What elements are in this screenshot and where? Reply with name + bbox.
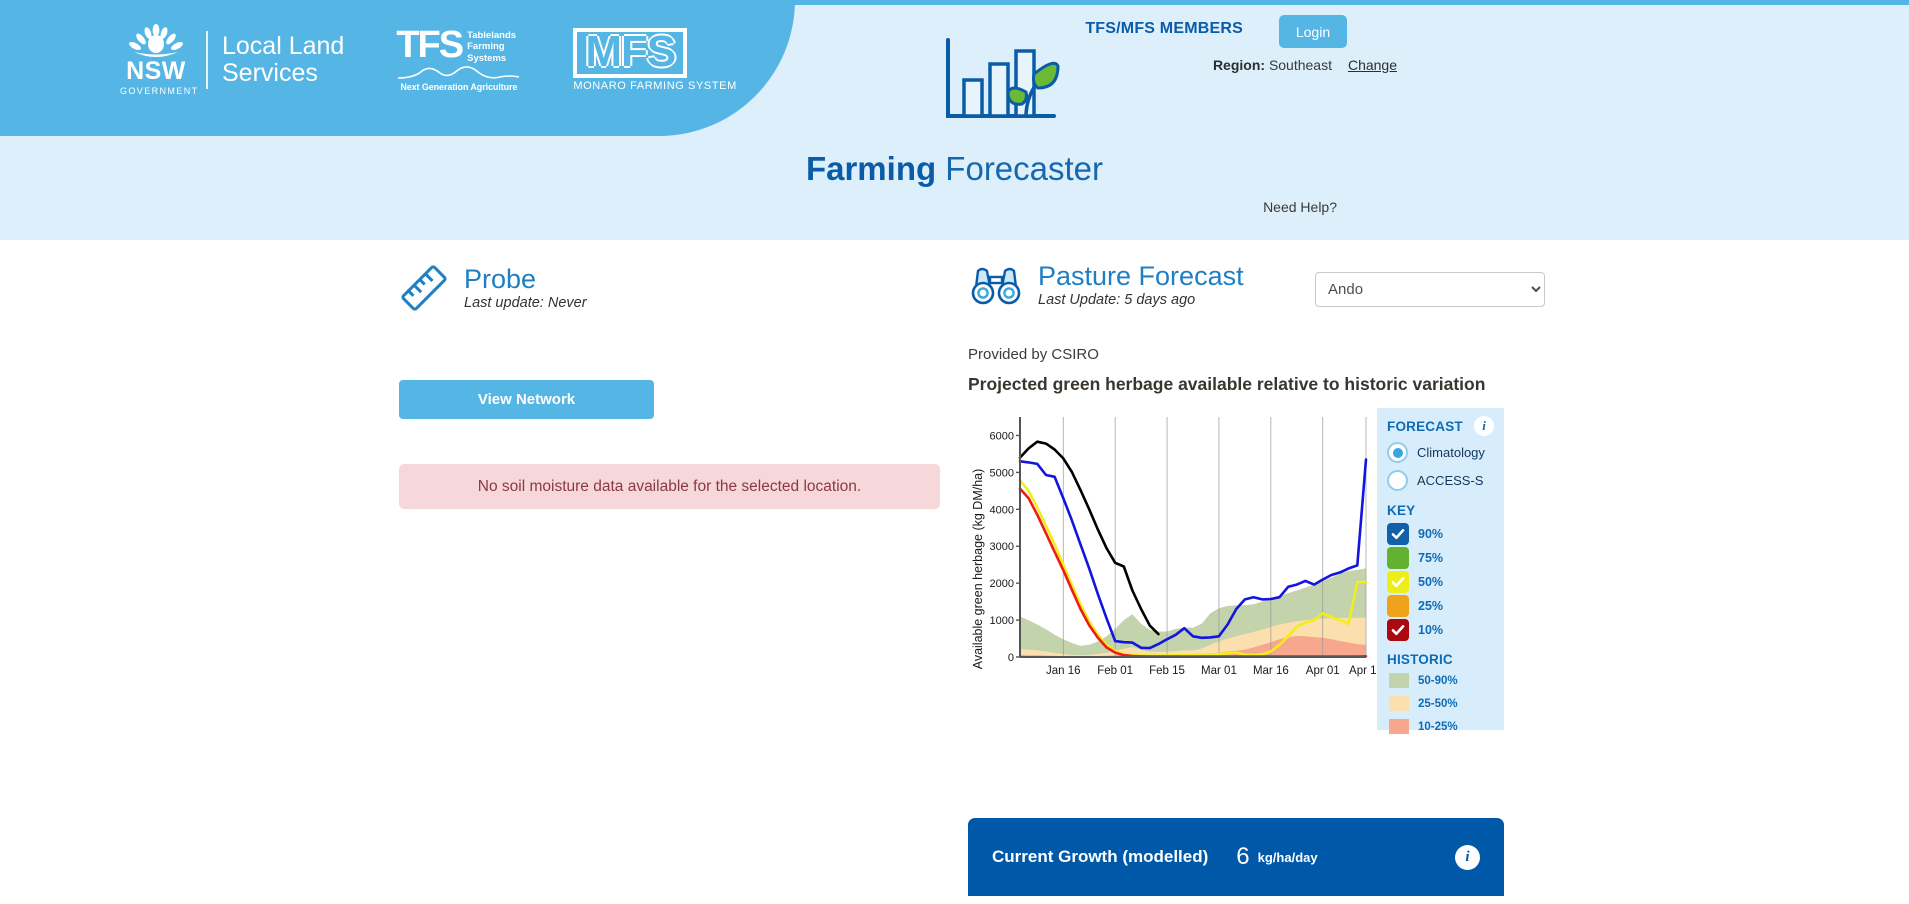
- page-title-light: Forecaster: [936, 150, 1103, 187]
- historic-label: 50-90%: [1418, 675, 1458, 687]
- radio-dot: [1393, 448, 1403, 458]
- key-label: 50%: [1418, 575, 1443, 589]
- x-tick-label: Apr 16: [1349, 665, 1378, 677]
- probe-title: Probe: [464, 265, 587, 293]
- y-tick-label: 5000: [990, 467, 1014, 479]
- y-tick-label: 4000: [990, 504, 1014, 516]
- tfs-line-2: Farming: [467, 41, 516, 52]
- region-display: Region: Southeast: [1213, 57, 1332, 73]
- need-help-link[interactable]: Need Help?: [1263, 199, 1337, 215]
- tfs-logo: TFS Tablelands Farming Systems Next Gene…: [396, 28, 521, 92]
- probe-panel: Probe Last update: Never: [398, 262, 943, 314]
- members-label: TFS/MFS MEMBERS: [1085, 20, 1243, 38]
- lls-line-2: Services: [222, 60, 344, 87]
- no-soil-moisture-alert: No soil moisture data available for the …: [399, 464, 940, 509]
- legend-key-item[interactable]: 25%: [1387, 595, 1494, 617]
- binoculars-icon: [968, 265, 1024, 305]
- tfs-tagline: Next Generation Agriculture: [396, 82, 521, 92]
- region-label: Region:: [1213, 57, 1265, 73]
- forecast-option-label: Climatology: [1417, 445, 1485, 460]
- mfs-abbreviation: MFS: [585, 33, 675, 72]
- ruler-icon: [398, 262, 450, 314]
- legend-historic-title: HISTORIC: [1377, 641, 1504, 667]
- check-icon: [1390, 526, 1406, 542]
- forecast-last-update: Last Update: 5 days ago: [1038, 292, 1244, 308]
- historic-swatch-50-90: [1389, 673, 1409, 688]
- key-label: 75%: [1418, 551, 1443, 565]
- legend-key-item[interactable]: 90%: [1387, 523, 1494, 545]
- radio-access-s-icon[interactable]: [1387, 470, 1408, 491]
- mfs-logo: MFS MONARO FARMING SYSTEM: [573, 28, 737, 92]
- nsw-wordmark: NSW: [120, 59, 192, 84]
- y-tick-label: 1000: [990, 615, 1014, 627]
- legend-historic-item: 10-25%: [1389, 719, 1494, 734]
- legend-key-item[interactable]: 50%: [1387, 571, 1494, 593]
- key-swatch-10[interactable]: [1387, 619, 1409, 641]
- hills-wave-icon: [396, 65, 521, 81]
- tfs-abbreviation: TFS: [396, 28, 462, 63]
- x-tick-label: Apr 01: [1306, 665, 1340, 677]
- historic-swatch-10-25: [1389, 719, 1409, 734]
- provided-by-text: Provided by CSIRO: [968, 346, 1099, 363]
- lls-line-1: Local Land: [222, 33, 344, 60]
- partner-logos: NSW GOVERNMENT Local Land Services TFS T…: [120, 24, 737, 96]
- legend-historic-item: 50-90%: [1389, 673, 1494, 688]
- region-value: Southeast: [1269, 57, 1332, 73]
- key-swatch-90[interactable]: [1387, 523, 1409, 545]
- forecast-info-icon[interactable]: i: [1474, 416, 1494, 436]
- waratah-icon: [128, 24, 184, 58]
- forecast-title: Pasture Forecast: [1038, 262, 1244, 290]
- page-title: Farming Forecaster: [0, 150, 1909, 188]
- x-tick-label: Feb 01: [1097, 665, 1133, 677]
- local-land-services-text: Local Land Services: [222, 33, 344, 87]
- tfs-line-1: Tablelands: [467, 30, 516, 41]
- x-tick-label: Mar 01: [1201, 665, 1237, 677]
- nsw-government-text: GOVERNMENT: [120, 86, 192, 96]
- login-button[interactable]: Login: [1279, 15, 1347, 48]
- current-growth-value: 6: [1236, 843, 1249, 871]
- chart-y-axis-label: Available green herbage (kg DM/ha): [971, 469, 985, 670]
- chart-y-tick-labels: 0100020003000400050006000: [990, 430, 1020, 664]
- main-content: Probe Last update: Never View Network No…: [0, 240, 1909, 904]
- tfs-line-3: Systems: [467, 53, 516, 64]
- page-title-bold: Farming: [806, 150, 936, 187]
- current-growth-label: Current Growth (modelled): [992, 847, 1208, 867]
- change-region-link[interactable]: Change: [1348, 57, 1397, 73]
- page-header: NSW GOVERNMENT Local Land Services TFS T…: [0, 0, 1909, 240]
- check-icon: [1390, 574, 1406, 590]
- pasture-select[interactable]: Ando: [1315, 272, 1545, 307]
- probe-last-update: Last update: Never: [464, 295, 587, 311]
- key-swatch-50[interactable]: [1387, 571, 1409, 593]
- series-Upper black: [1020, 442, 1158, 634]
- forecast-option-access-s[interactable]: ACCESS-S: [1387, 470, 1494, 491]
- y-tick-label: 2000: [990, 578, 1014, 590]
- nsw-local-land-services-logo: NSW GOVERNMENT Local Land Services: [120, 24, 344, 96]
- key-label: 90%: [1418, 527, 1443, 541]
- x-tick-label: Jan 16: [1046, 665, 1081, 677]
- current-growth-banner: Current Growth (modelled) 6 kg/ha/day i: [968, 818, 1504, 896]
- chart-x-tick-labels: Jan 16Feb 01Feb 15Mar 01Mar 16Apr 01Apr …: [1046, 665, 1378, 677]
- forecast-option-label: ACCESS-S: [1417, 473, 1483, 488]
- chart-heading: Projected green herbage available relati…: [968, 374, 1485, 395]
- x-tick-label: Feb 15: [1149, 665, 1185, 677]
- chart-svg: 0100020003000400050006000 Jan 16Feb 01Fe…: [968, 409, 1378, 709]
- x-tick-label: Mar 16: [1253, 665, 1289, 677]
- forecast-option-climatology[interactable]: Climatology: [1387, 442, 1494, 463]
- historic-label: 25-50%: [1418, 698, 1458, 710]
- legend-historic-item: 25-50%: [1389, 696, 1494, 711]
- key-label: 10%: [1418, 623, 1443, 637]
- key-swatch-25[interactable]: [1387, 595, 1409, 617]
- legend-forecast-title: FORECAST: [1387, 419, 1463, 434]
- historic-swatch-25-50: [1389, 696, 1409, 711]
- key-label: 25%: [1418, 599, 1443, 613]
- key-swatch-75[interactable]: [1387, 547, 1409, 569]
- nsw-government-mark: NSW GOVERNMENT: [120, 24, 192, 96]
- radio-climatology-icon[interactable]: [1387, 442, 1408, 463]
- view-network-button[interactable]: View Network: [399, 380, 654, 419]
- legend-key-item[interactable]: 75%: [1387, 547, 1494, 569]
- logo-divider: [206, 31, 208, 89]
- y-tick-label: 6000: [990, 430, 1014, 442]
- chart-legend-panel: FORECAST i Climatology ACCESS-S KEY 90%7…: [1377, 408, 1504, 730]
- historic-label: 10-25%: [1418, 721, 1458, 733]
- bar-chart-sprout-icon: [942, 36, 1062, 126]
- mfs-subtitle: MONARO FARMING SYSTEM: [573, 80, 737, 92]
- current-growth-info-icon[interactable]: i: [1455, 845, 1480, 870]
- current-growth-units: kg/ha/day: [1258, 850, 1318, 865]
- mfs-box: MFS: [573, 28, 687, 78]
- legend-historic-list: 50-90%25-50%10-25%: [1377, 667, 1504, 734]
- y-tick-label: 0: [1008, 652, 1014, 664]
- legend-key-title: KEY: [1377, 491, 1504, 518]
- check-icon: [1390, 622, 1406, 638]
- legend-key-item[interactable]: 10%: [1387, 619, 1494, 641]
- y-tick-label: 3000: [990, 541, 1014, 553]
- legend-key-list: 90%75%50%25%10%: [1377, 518, 1504, 641]
- tfs-expansion: Tablelands Farming Systems: [467, 28, 516, 64]
